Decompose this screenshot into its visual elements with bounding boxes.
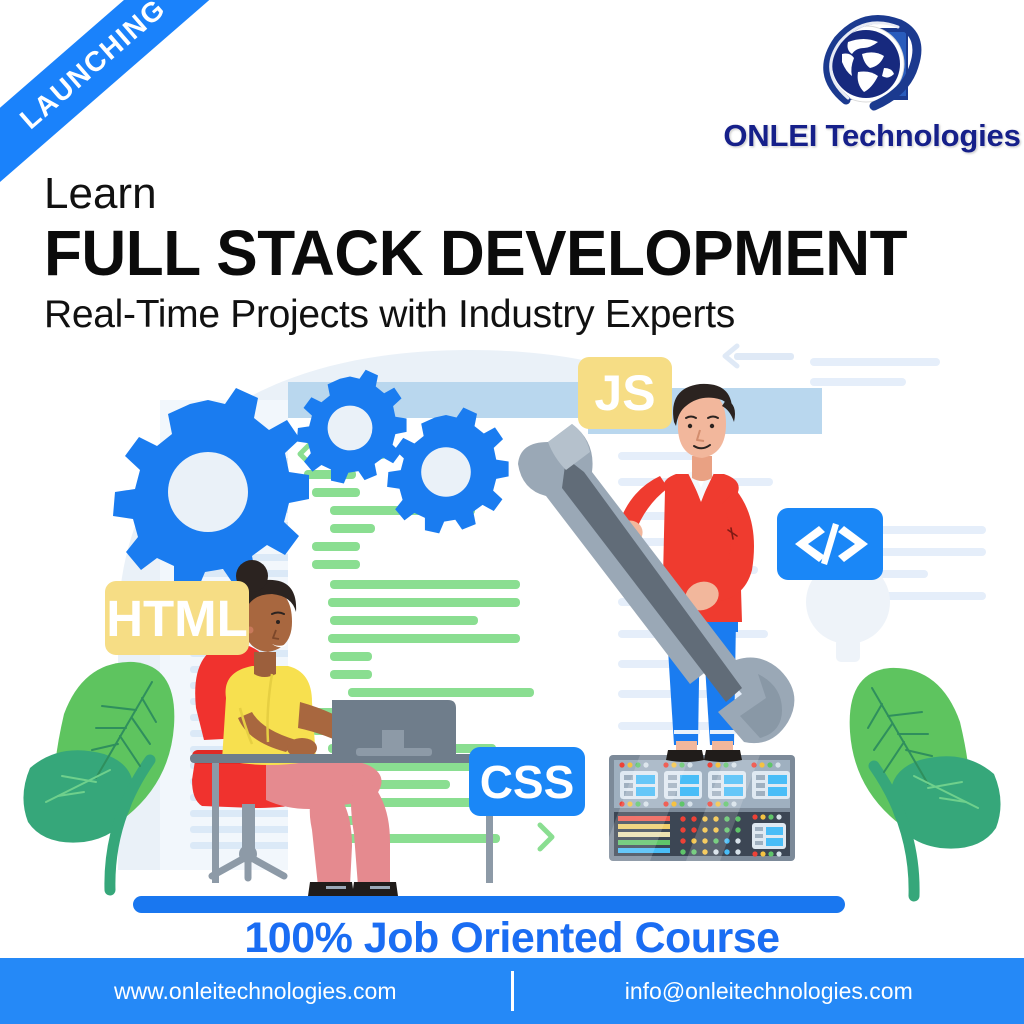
ribbon-band: LAUNCHING: [0, 0, 236, 190]
css-badge: CSS: [469, 747, 585, 816]
footer-website[interactable]: www.onleitechnologies.com: [0, 978, 511, 1005]
globe-orbit-icon: [808, 14, 936, 122]
css-badge-label: CSS: [480, 755, 575, 809]
headline-title: FULL STACK DEVELOPMENT: [44, 220, 907, 287]
brand-logo: ONLEI Technologies: [728, 14, 1016, 164]
server-rack: [600, 755, 795, 861]
headline-block: Learn FULL STACK DEVELOPMENT Real-Time P…: [44, 172, 934, 337]
launching-ribbon: LAUNCHING: [0, 0, 260, 190]
headline-subtitle: Real-Time Projects with Industry Experts: [44, 293, 934, 338]
html-badge: HTML: [105, 581, 249, 655]
brand-name: ONLEI Technologies: [723, 118, 1020, 154]
footer-bar: www.onleitechnologies.com info@onleitech…: [0, 958, 1024, 1024]
js-badge-label: JS: [594, 364, 655, 422]
tagline-text: 100% Job Oriented Course: [0, 914, 1024, 963]
html-badge-label: HTML: [106, 589, 248, 648]
code-brackets-icon: [789, 519, 871, 569]
js-badge: JS: [578, 357, 672, 429]
poster-canvas: JS HTML CSS LAUNCHING: [0, 0, 1024, 1024]
ribbon-label: LAUNCHING: [14, 0, 172, 136]
tagline-bar: [133, 896, 845, 913]
footer-email[interactable]: info@onleitechnologies.com: [514, 978, 1024, 1005]
code-badge: [777, 508, 883, 580]
